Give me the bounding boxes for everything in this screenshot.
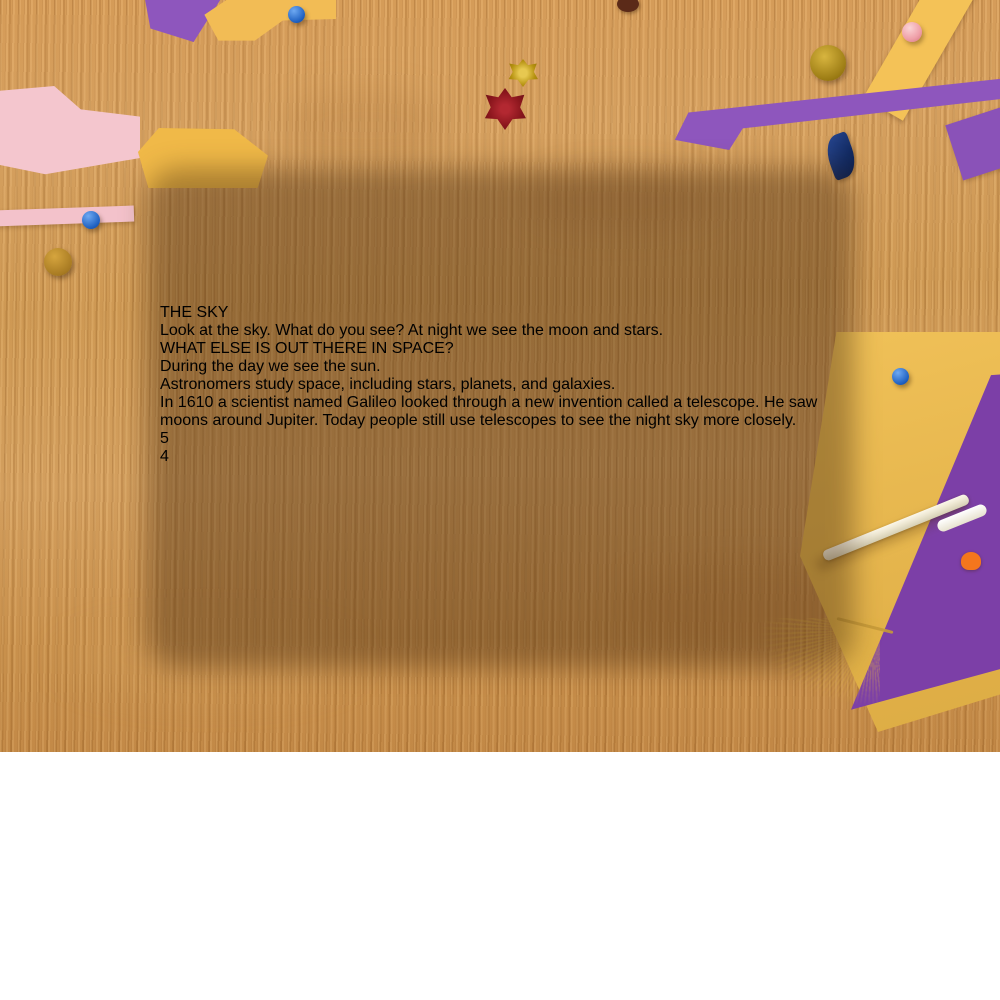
sequin-dark-small	[617, 0, 639, 12]
card-galileo: In 1610 a scientist named Galileo looked…	[160, 394, 840, 448]
sequin-gold-round	[810, 45, 846, 81]
tablet-screen[interactable]: THE SKY Look at the sky. What do you see…	[160, 304, 840, 466]
pushpin-blue-right	[892, 368, 909, 385]
card-during-the-day-text: During the day we see the sun.	[160, 358, 840, 376]
pen-clip-orange	[961, 552, 981, 570]
paper-pink-strip	[0, 206, 134, 227]
book-heading-what-else: WHAT ELSE IS OUT THERE IN SPACE?	[160, 340, 840, 358]
book-heading-the-sky: THE SKY	[160, 304, 840, 322]
volume-down-button[interactable]	[160, 202, 840, 246]
kids-tablet[interactable]: THE SKY Look at the sky. What do you see…	[160, 158, 840, 648]
sequin-flower-red	[484, 88, 526, 130]
lifestyle-photo: THE SKY Look at the sky. What do you see…	[0, 0, 1000, 752]
bead-pink	[902, 22, 922, 42]
card-during-the-day: During the day we see the sun.	[160, 358, 840, 376]
button-gold-left	[44, 248, 72, 276]
card-astronomers: Astronomers study space, including stars…	[160, 376, 840, 394]
product-image: THE SKY Look at the sky. What do you see…	[0, 0, 1000, 1000]
power-button[interactable]	[160, 246, 840, 304]
page-number-right: 5	[160, 430, 840, 448]
volume-up-button[interactable]	[160, 158, 840, 202]
paper-purple-strip-edge	[945, 98, 1000, 181]
pushpin-blue-top	[288, 6, 305, 23]
sequin-flower-gold	[508, 59, 538, 87]
tablet-bumper-case: THE SKY Look at the sky. What do you see…	[160, 158, 840, 630]
paper-pink-large	[0, 86, 140, 176]
card-galileo-text: In 1610 a scientist named Galileo looked…	[160, 394, 840, 430]
card-astronomers-text: Astronomers study space, including stars…	[160, 376, 840, 394]
wood-grain-blotch	[280, 90, 450, 160]
paper-yellow-band-top	[196, 0, 336, 68]
pushpin-blue-left	[82, 211, 100, 229]
page-number-left: 4	[160, 448, 840, 466]
book-left-page-body: Look at the sky. What do you see? At nig…	[160, 322, 840, 340]
